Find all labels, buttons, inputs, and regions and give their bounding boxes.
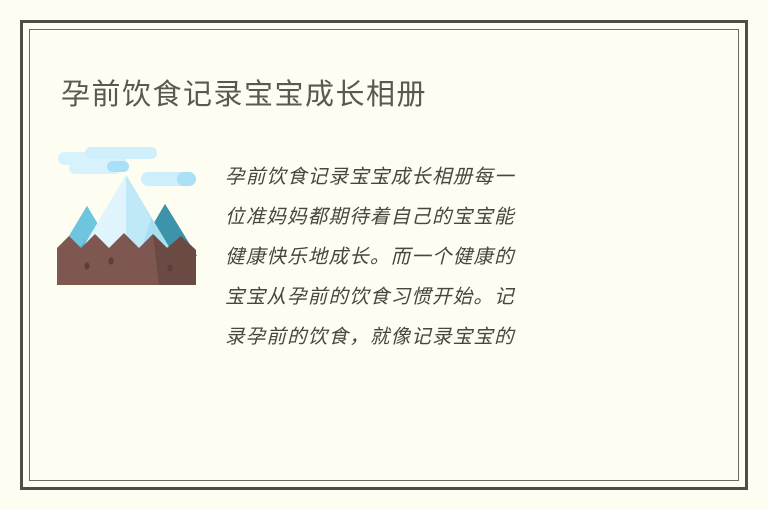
article-line: 位准妈妈都期待着自己的宝宝能 (225, 197, 665, 237)
article-line: 宝宝从孕前的饮食习惯开始。记 (225, 277, 665, 317)
article-page: 孕前饮食记录宝宝成长相册 (0, 0, 768, 510)
article-line: 孕前饮食记录宝宝成长相册每一 (225, 157, 665, 197)
snow-mountain-illustration (55, 144, 198, 296)
article-line: 录孕前的饮食，就像记录宝宝的 (225, 317, 665, 357)
article-line: 健康快乐地成长。而一个健康的 (225, 237, 665, 277)
page-content: 孕前饮食记录宝宝成长相册 (29, 29, 739, 481)
page-title: 孕前饮食记录宝宝成长相册 (61, 71, 427, 113)
article-body: 孕前饮食记录宝宝成长相册每一 位准妈妈都期待着自己的宝宝能 健康快乐地成长。而一… (225, 157, 665, 357)
